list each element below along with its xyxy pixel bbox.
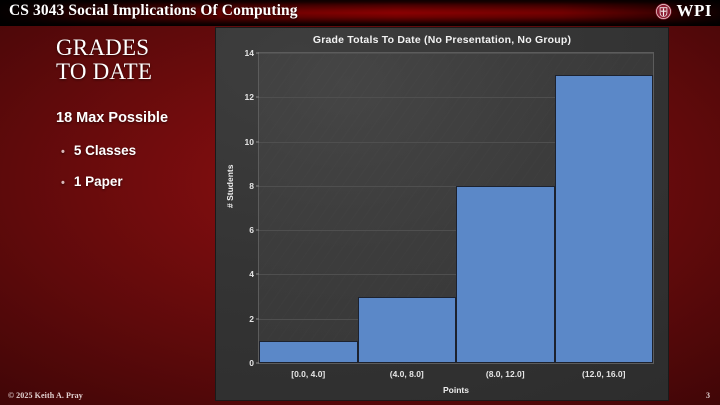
chart-y-tick-label: 8 [249,181,254,191]
chart-y-tick-label: 14 [245,48,254,58]
sub-bullet-label: 1 Paper [74,174,123,189]
presentation-slide: CS 3043 Social Implications Of Computing… [0,0,720,405]
slide-title-line-1: GRADES [56,36,216,60]
chart-y-tick-mark [256,185,259,186]
chart-gridline [259,53,653,54]
bullet-max-possible: 18 Max Possible [56,110,168,126]
bullet-dot-icon: • [61,178,65,189]
chart-y-tick-label: 2 [249,314,254,324]
grade-histogram-figure: Grade Totals To Date (No Presentation, N… [216,28,668,400]
chart-x-tick-label: [0.0, 4.0] [291,369,325,379]
wpi-brand: WPI [655,1,713,21]
chart-y-tick-label: 0 [249,358,254,368]
chart-bar [259,341,358,363]
chart-y-tick-mark [256,97,259,98]
course-title: CS 3043 Social Implications Of Computing [9,2,298,20]
chart-y-tick-label: 6 [249,225,254,235]
chart-y-tick-label: 4 [249,269,254,279]
chart-bar [456,186,555,363]
chart-y-tick-mark [256,274,259,275]
wpi-wordmark: WPI [677,1,713,21]
chart-y-tick-mark [256,53,259,54]
chart-x-tick-label: (12.0, 16.0] [582,369,625,379]
chart-y-axis-label: # Students [225,165,235,208]
chart-y-tick-label: 10 [245,137,254,147]
chart-y-tick-mark [256,318,259,319]
sub-bullet-paper: • 1 Paper [61,174,123,189]
footer-page-number: 3 [706,391,710,400]
chart-y-tick-mark [256,141,259,142]
chart-x-tick-label: (4.0, 8.0] [390,369,424,379]
chart-bar [358,297,457,363]
footer-copyright: © 2025 Keith A. Pray [8,391,83,400]
slide-title-line-2: TO DATE [56,60,216,84]
sub-bullet-classes: • 5 Classes [61,143,136,158]
chart-y-tick-label: 12 [245,92,254,102]
slide-left-column: GRADES TO DATE 18 Max Possible • 5 Class… [0,26,214,405]
chart-bar [555,75,654,363]
chart-y-tick-mark [256,230,259,231]
bullet-dot-icon: • [61,147,65,158]
sub-bullet-label: 5 Classes [74,143,136,158]
slide-title: GRADES TO DATE [56,36,216,84]
chart-plot-area: 02468101214[0.0, 4.0](4.0, 8.0](8.0, 12.… [258,52,654,364]
chart-title: Grade Totals To Date (No Presentation, N… [216,34,668,46]
slide-header-band: CS 3043 Social Implications Of Computing… [0,0,720,26]
chart-x-axis-label: Points [258,385,654,395]
wpi-seal-icon [655,3,672,20]
chart-x-tick-label: (8.0, 12.0] [486,369,525,379]
